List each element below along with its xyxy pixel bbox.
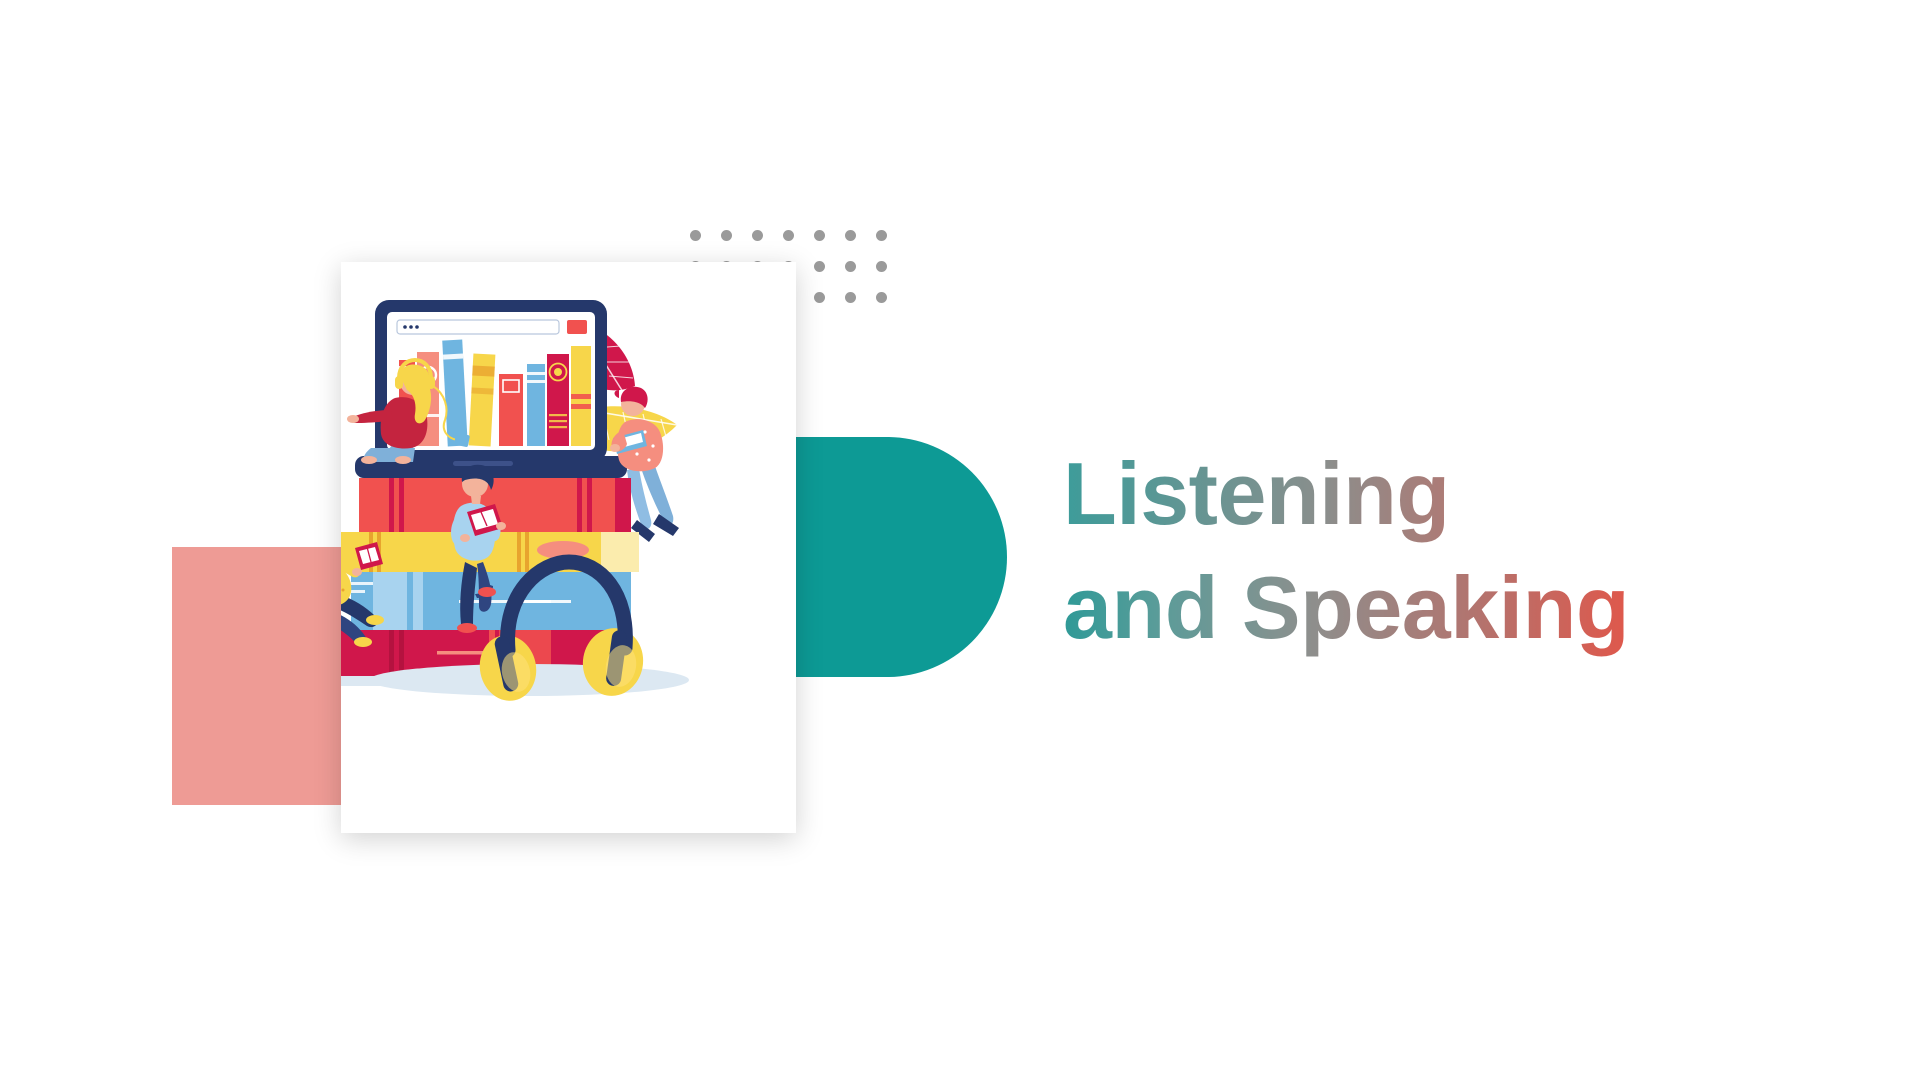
grid-dot (814, 261, 825, 272)
grid-dot (814, 230, 825, 241)
grid-dot (721, 230, 732, 241)
grid-dot (690, 230, 701, 241)
headline-line-2: and Speaking (1063, 551, 1883, 665)
grid-dot (814, 292, 825, 303)
white-card-panel (341, 262, 796, 833)
grid-dot (845, 292, 856, 303)
grid-dot (876, 292, 887, 303)
grid-dot (876, 230, 887, 241)
headline-block: Listening and Speaking (1063, 437, 1883, 666)
headline-line-1: Listening (1063, 437, 1883, 551)
grid-dot (845, 230, 856, 241)
grid-dot (752, 230, 763, 241)
grid-dot (876, 261, 887, 272)
grid-dot (783, 230, 794, 241)
slide-canvas: Listening and Speaking (0, 0, 1920, 1080)
grid-dot (845, 261, 856, 272)
